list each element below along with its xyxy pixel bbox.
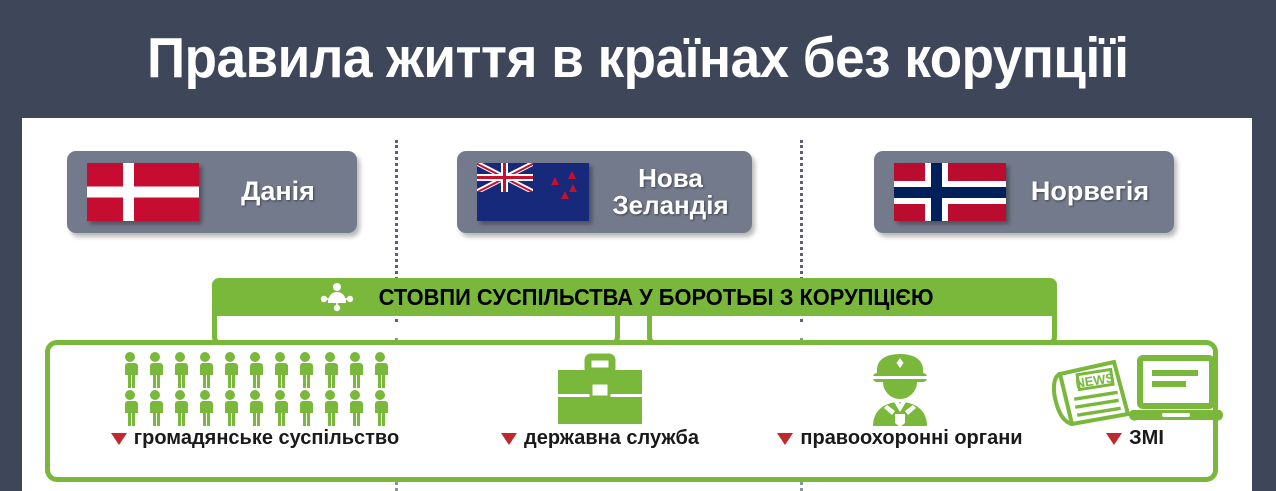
pillar-civil-service[interactable]: державна служба <box>480 345 720 477</box>
police-officer-icon <box>861 345 939 427</box>
network-nodes-icon <box>320 282 354 312</box>
country-label-new-zealand-line1: Нова <box>595 165 746 192</box>
norway-flag-icon <box>894 163 1006 221</box>
title-bar: Правила життя в країнах без корупціїі <box>0 0 1276 115</box>
content-panel: Данія Нова Зеландія <box>22 118 1252 491</box>
red-triangle-bullet-icon <box>501 433 517 445</box>
pillar-label-text: державна служба <box>524 427 699 450</box>
page-title: Правила життя в країнах без корупціїі <box>147 25 1129 91</box>
briefcase-icon <box>550 345 650 427</box>
denmark-flag-icon <box>87 163 199 221</box>
country-badge-denmark[interactable]: Данія <box>67 151 357 233</box>
pillar-label-law-enforcement: правоохоронні органи <box>777 427 1022 450</box>
pillars-banner: СТОВПИ СУСПІЛЬСТВА У БОРОТЬБІ З КОРУПЦІЄ… <box>212 278 1057 316</box>
pillars-panel: громадянське суспільство державна служба <box>45 340 1218 482</box>
pillar-media[interactable]: NEWS <box>1035 345 1235 477</box>
country-label-denmark: Данія <box>199 178 357 206</box>
laptop-icon <box>1128 358 1222 421</box>
pillar-label-text: громадянське суспільство <box>134 427 399 450</box>
red-triangle-bullet-icon <box>111 433 127 445</box>
pillars-banner-text: СТОВПИ СУСПІЛЬСТВА У БОРОТЬБІ З КОРУПЦІЄ… <box>379 284 934 311</box>
country-badge-new-zealand[interactable]: Нова Зеландія <box>457 151 752 233</box>
people-group-icon <box>118 345 392 427</box>
newspaper-icon: NEWS <box>1053 362 1127 424</box>
country-label-norway: Норвегія <box>1006 178 1174 206</box>
red-triangle-bullet-icon <box>777 433 793 445</box>
infographic-root: Правила життя в країнах без корупціїі Да… <box>0 0 1276 491</box>
country-badge-norway[interactable]: Норвегія <box>874 151 1174 233</box>
pillar-label-text: ЗМІ <box>1129 427 1164 450</box>
people-grid <box>118 351 392 427</box>
union-jack-canton <box>477 163 533 192</box>
red-triangle-bullet-icon <box>1106 433 1122 445</box>
pillar-label-text: правоохоронні органи <box>800 427 1022 450</box>
pillar-label-civil-service: державна служба <box>501 427 699 450</box>
new-zealand-flag-icon <box>477 163 589 221</box>
pillar-label-civil-society: громадянське суспільство <box>111 427 399 450</box>
pillar-civil-society[interactable]: громадянське суспільство <box>100 345 410 477</box>
pillar-label-media: ЗМІ <box>1106 427 1164 450</box>
country-label-new-zealand-line2: Зеландія <box>595 192 746 219</box>
news-and-laptop-icon: NEWS <box>1048 345 1223 427</box>
country-label-new-zealand: Нова Зеландія <box>589 165 752 218</box>
pillar-law-enforcement[interactable]: правоохоронні органи <box>760 345 1040 477</box>
